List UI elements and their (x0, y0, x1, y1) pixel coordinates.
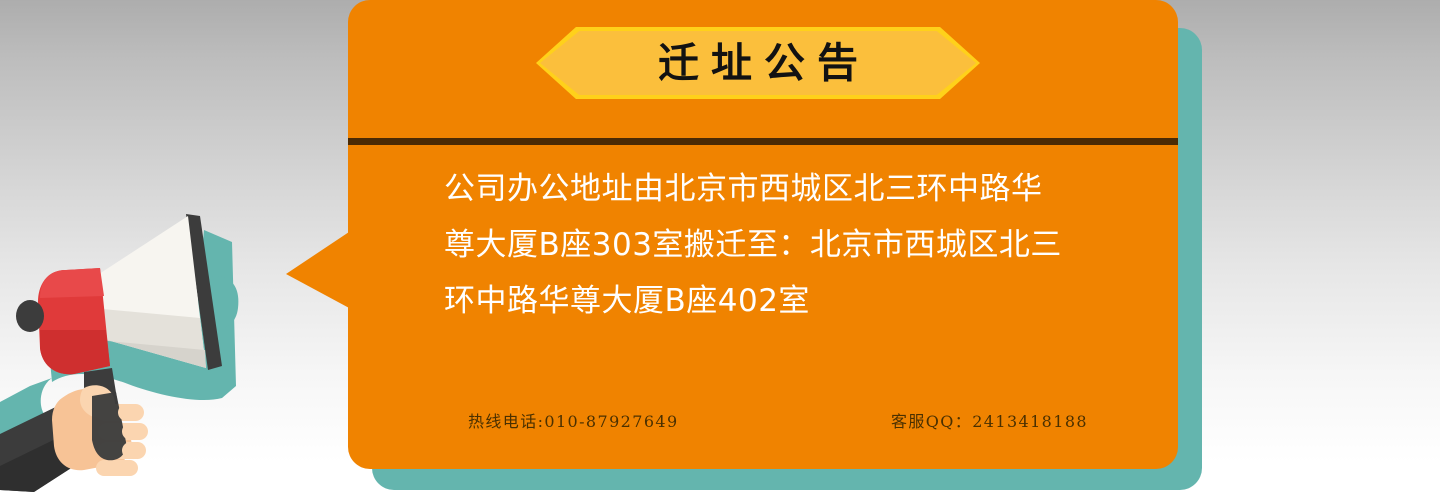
megaphone-handle-front (92, 392, 126, 460)
announcement-body-line: 尊大厦B座303室搬迁至：北京市西城区北三 (444, 217, 1092, 273)
announcement-body-line: 环中路华尊大厦B座402室 (444, 273, 1092, 329)
announcement-card: 迁址公告 公司办公地址由北京市西城区北三环中路华 尊大厦B座303室搬迁至：北京… (348, 0, 1178, 469)
customer-service-qq: 客服QQ：2413418188 (891, 408, 1088, 432)
megaphone-body-red-shade (40, 330, 110, 374)
hotline-phone: 热线电话:010-87927649 (468, 408, 679, 432)
megaphone-body-red-light (40, 268, 104, 298)
title-banner: 迁址公告 (536, 27, 980, 99)
divider (348, 138, 1178, 145)
announcement-body-line: 公司办公地址由北京市西城区北三环中路华 (444, 161, 1092, 217)
announcement-banner-stage: 迁址公告 公司办公地址由北京市西城区北三环中路华 尊大厦B座303室搬迁至：北京… (0, 0, 1440, 492)
page-title: 迁址公告 (536, 27, 980, 99)
megaphone-back-nub (16, 300, 44, 332)
megaphone-illustration (0, 190, 300, 492)
announcement-body: 公司办公地址由北京市西城区北三环中路华 尊大厦B座303室搬迁至：北京市西城区北… (444, 161, 1092, 329)
contact-footer: 热线电话:010-87927649 客服QQ：2413418188 (468, 408, 1088, 432)
